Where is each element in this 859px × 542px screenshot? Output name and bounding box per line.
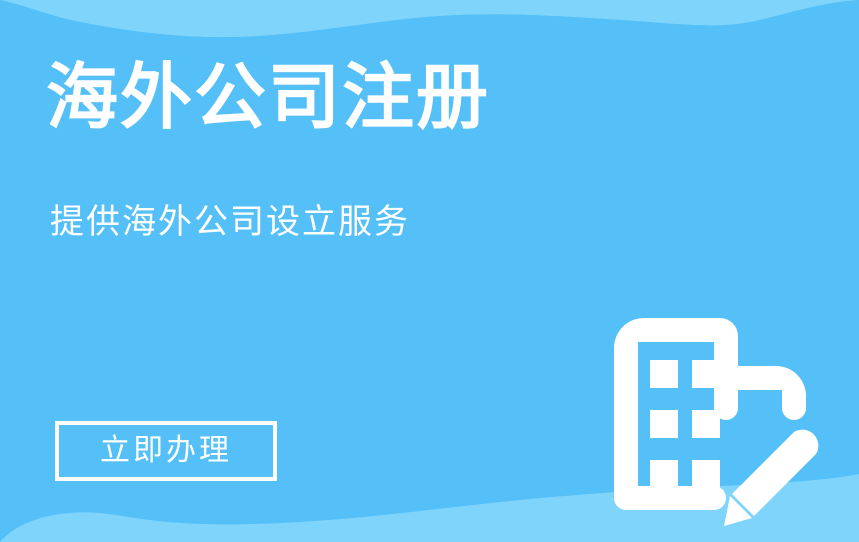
page-title: 海外公司注册 bbox=[46, 62, 490, 134]
building-with-pencil-icon bbox=[608, 300, 820, 526]
page-subtitle: 提供海外公司设立服务 bbox=[50, 205, 410, 239]
apply-now-button-label: 立即办理 bbox=[100, 436, 232, 466]
banner-content: 海外公司注册 提供海外公司设立服务 立即办理 bbox=[0, 0, 859, 542]
promo-banner: 海外公司注册 提供海外公司设立服务 立即办理 bbox=[0, 0, 859, 542]
apply-now-button[interactable]: 立即办理 bbox=[55, 421, 277, 481]
